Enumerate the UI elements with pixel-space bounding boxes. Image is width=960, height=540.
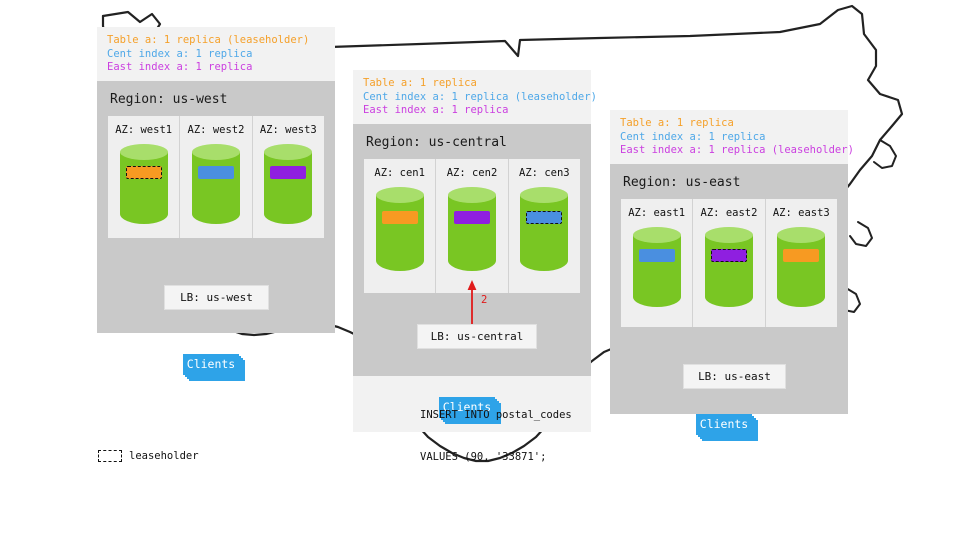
diagram-canvas: Table a: 1 replica (leaseholder) Cent in… [0,0,960,540]
az-label: AZ: cen3 [519,167,570,179]
region-panel-us-west: Table a: 1 replica (leaseholder) Cent in… [97,27,335,333]
az-cell-west3[interactable]: AZ: west3 [253,116,324,238]
node-cylinder-cen2[interactable] [448,187,496,271]
node-cylinder-west1[interactable] [120,144,168,224]
node-cylinder-east1[interactable] [633,227,681,307]
cylinder-body [264,152,312,224]
cylinder-top [705,227,753,243]
cylinder-top [448,187,496,203]
az-label: AZ: cen2 [447,167,498,179]
cylinder-body [633,235,681,307]
node-cylinder-cen3[interactable] [520,187,568,271]
region-title: Region: us-central [353,124,591,159]
cylinder-top [777,227,825,243]
replica-line-east-index: East index a: 1 replica [363,104,581,118]
annotation-arrow-2: 2 [463,278,503,326]
az-cell-west1[interactable]: AZ: west1 [108,116,180,238]
replica-legend-us-west: Table a: 1 replica (leaseholder) Cent in… [97,27,335,81]
replica-line-table: Table a: 1 replica [363,77,581,91]
az-label: AZ: west2 [188,124,245,136]
az-label: AZ: west1 [115,124,172,136]
az-cell-cen2[interactable]: AZ: cen2 [436,159,508,293]
load-balancer-us-east[interactable]: LB: us-east [683,364,786,389]
replica-line-table: Table a: 1 replica [620,117,838,131]
node-cylinder-east3[interactable] [777,227,825,307]
cylinder-top [120,144,168,160]
az-label: AZ: east3 [773,207,830,219]
az-cell-east2[interactable]: AZ: east2 [693,199,765,327]
replica-line-cent-index: Cent index a: 1 replica [620,131,838,145]
cylinder-top [192,144,240,160]
cylinder-body [192,152,240,224]
az-label: AZ: cen1 [374,167,425,179]
cylinder-top [264,144,312,160]
sql-line-1: INSERT INTO postal_codes [420,408,572,422]
clients-stack-us-west[interactable]: Clients [183,354,251,384]
az-cell-cen3[interactable]: AZ: cen3 [509,159,580,293]
cylinder-top [376,187,424,203]
sql-line-2: VALUES (90, '33871'; [420,450,572,464]
clients-label[interactable]: Clients [696,414,752,435]
az-cell-east1[interactable]: AZ: east1 [621,199,693,327]
node-cylinder-west3[interactable] [264,144,312,224]
replica-legend-us-central: Table a: 1 replica Cent index a: 1 repli… [353,70,591,124]
az-label: AZ: east2 [701,207,758,219]
replica-band-table [382,211,418,224]
replica-band-table-leaseholder [126,166,162,179]
dashed-rect-icon [98,450,122,462]
az-label: AZ: east1 [628,207,685,219]
cylinder-body [448,195,496,271]
cylinder-body [120,152,168,224]
cylinder-body [777,235,825,307]
replica-line-cent-index: Cent index a: 1 replica [107,48,325,62]
replica-legend-us-east: Table a: 1 replica Cent index a: 1 repli… [610,110,848,164]
replica-band-cent-index [198,166,234,179]
replica-band-cent-index [639,249,675,262]
replica-band-cent-index-leaseholder [526,211,562,224]
legend-label: leaseholder [129,450,199,462]
region-body-us-central: Region: us-central AZ: cen1 AZ: cen2 [353,124,591,376]
cylinder-body [520,195,568,271]
region-title: Region: us-west [97,81,335,116]
az-strip-us-west: AZ: west1 AZ: west2 AZ [108,116,324,238]
replica-line-cent-index: Cent index a: 1 replica (leaseholder) [363,91,581,105]
az-strip-us-east: AZ: east1 AZ: east2 AZ [621,199,837,327]
node-cylinder-east2[interactable] [705,227,753,307]
replica-band-east-index-leaseholder [711,249,747,262]
region-title: Region: us-east [610,164,848,199]
az-cell-west2[interactable]: AZ: west2 [180,116,252,238]
az-cell-east3[interactable]: AZ: east3 [766,199,837,327]
az-label: AZ: west3 [260,124,317,136]
node-cylinder-cen1[interactable] [376,187,424,271]
replica-band-east-index [454,211,490,224]
replica-line-east-index: East index a: 1 replica [107,61,325,75]
region-panel-us-central: Table a: 1 replica Cent index a: 1 repli… [353,70,591,432]
load-balancer-us-central[interactable]: LB: us-central [417,324,537,349]
cylinder-top [520,187,568,203]
cylinder-body [705,235,753,307]
cylinder-body [376,195,424,271]
load-balancer-us-west[interactable]: LB: us-west [164,285,269,310]
az-cell-cen1[interactable]: AZ: cen1 [364,159,436,293]
replica-band-east-index [270,166,306,179]
replica-line-east-index: East index a: 1 replica (leaseholder) [620,144,838,158]
az-strip-us-central: AZ: cen1 AZ: cen2 AZ: [364,159,580,293]
cylinder-top [633,227,681,243]
node-cylinder-west2[interactable] [192,144,240,224]
region-panel-us-east: Table a: 1 replica Cent index a: 1 repli… [610,110,848,414]
annotation-step-number: 2 [481,294,487,306]
region-body-us-east: Region: us-east AZ: east1 AZ: east2 [610,164,848,414]
clients-stack-us-east[interactable]: Clients [696,414,764,444]
sql-statement: INSERT INTO postal_codes VALUES (90, '33… [420,380,572,492]
replica-band-table [783,249,819,262]
region-body-us-west: Region: us-west AZ: west1 AZ: west2 [97,81,335,333]
leaseholder-legend: leaseholder [98,450,199,462]
clients-label[interactable]: Clients [183,354,239,375]
replica-line-table: Table a: 1 replica (leaseholder) [107,34,325,48]
